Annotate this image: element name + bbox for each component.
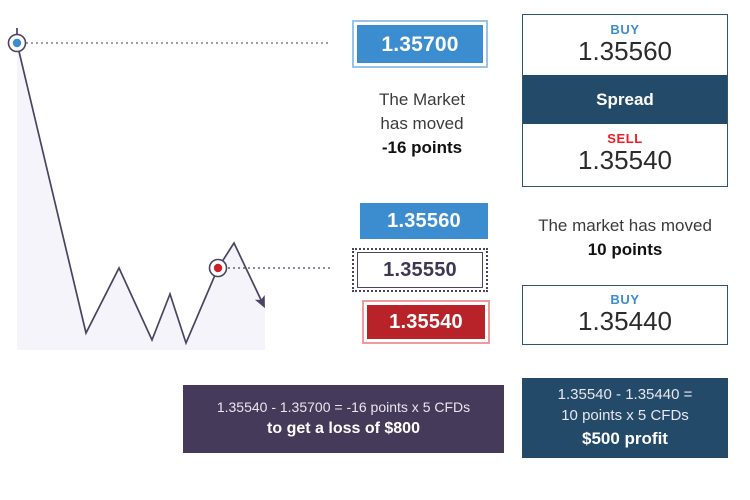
open-price-value: 1.35700 xyxy=(381,34,458,55)
quote-buy-label: BUY xyxy=(610,23,639,37)
mid-price-value: 1.35550 xyxy=(383,260,457,280)
caption-right-line1: The market has moved xyxy=(538,216,712,235)
caption-left-line1: The Market xyxy=(379,90,465,109)
quote-sell-label: SELL xyxy=(607,132,643,146)
open-price-box-inner: 1.35700 xyxy=(357,25,483,63)
close-price-marker xyxy=(210,260,227,277)
profit-calculation-line2: 10 points x 5 CFDs xyxy=(561,405,689,426)
closing-buy-panel[interactable]: BUY 1.35440 xyxy=(522,285,728,345)
market-moved-caption-right: The market has moved 10 points xyxy=(516,214,734,262)
caption-left-line2: has moved xyxy=(380,114,463,133)
mid-price-box-inner: 1.35550 xyxy=(357,252,483,288)
open-price-marker xyxy=(9,35,26,52)
bid-price-box: 1.35560 xyxy=(360,203,488,239)
market-moved-caption-left: The Market has moved -16 points xyxy=(352,88,492,160)
bid-price-value: 1.35560 xyxy=(387,211,461,231)
caption-left-emphasis: -16 points xyxy=(352,136,492,160)
quote-buy-price: 1.35560 xyxy=(578,37,672,67)
mid-price-box: 1.35550 xyxy=(352,248,488,292)
closing-buy-price: 1.35440 xyxy=(578,307,672,337)
loss-calculation: 1.35540 - 1.35700 = -16 points x 5 CFDs xyxy=(217,397,470,417)
quote-panel: BUY 1.35560 Spread SELL 1.35540 xyxy=(522,14,728,187)
loss-summary-box: 1.35540 - 1.35700 = -16 points x 5 CFDs … xyxy=(183,385,504,453)
closing-buy-label: BUY xyxy=(610,293,639,307)
price-line-chart xyxy=(0,0,330,375)
quote-buy-cell[interactable]: BUY 1.35560 xyxy=(523,15,727,75)
profit-result: $500 profit xyxy=(582,426,668,452)
quote-sell-cell[interactable]: SELL 1.35540 xyxy=(523,124,727,184)
profit-calculation-line1: 1.35540 - 1.35440 = xyxy=(558,384,693,405)
spread-band: Spread xyxy=(523,75,727,124)
spread-label: Spread xyxy=(596,90,654,110)
profit-summary-box: 1.35540 - 1.35440 = 10 points x 5 CFDs $… xyxy=(522,378,728,458)
caption-right-emphasis: 10 points xyxy=(516,238,734,262)
quote-sell-price: 1.35540 xyxy=(578,146,672,176)
ask-price-box-inner: 1.35540 xyxy=(367,305,485,339)
open-price-box: 1.35700 xyxy=(352,20,488,68)
chart-svg xyxy=(0,0,330,375)
ask-price-value: 1.35540 xyxy=(389,312,463,332)
loss-result: to get a loss of $800 xyxy=(267,417,420,441)
ask-price-box: 1.35540 xyxy=(362,300,490,344)
infographic-canvas: 1.35700 The Market has moved -16 points … xyxy=(0,0,750,500)
